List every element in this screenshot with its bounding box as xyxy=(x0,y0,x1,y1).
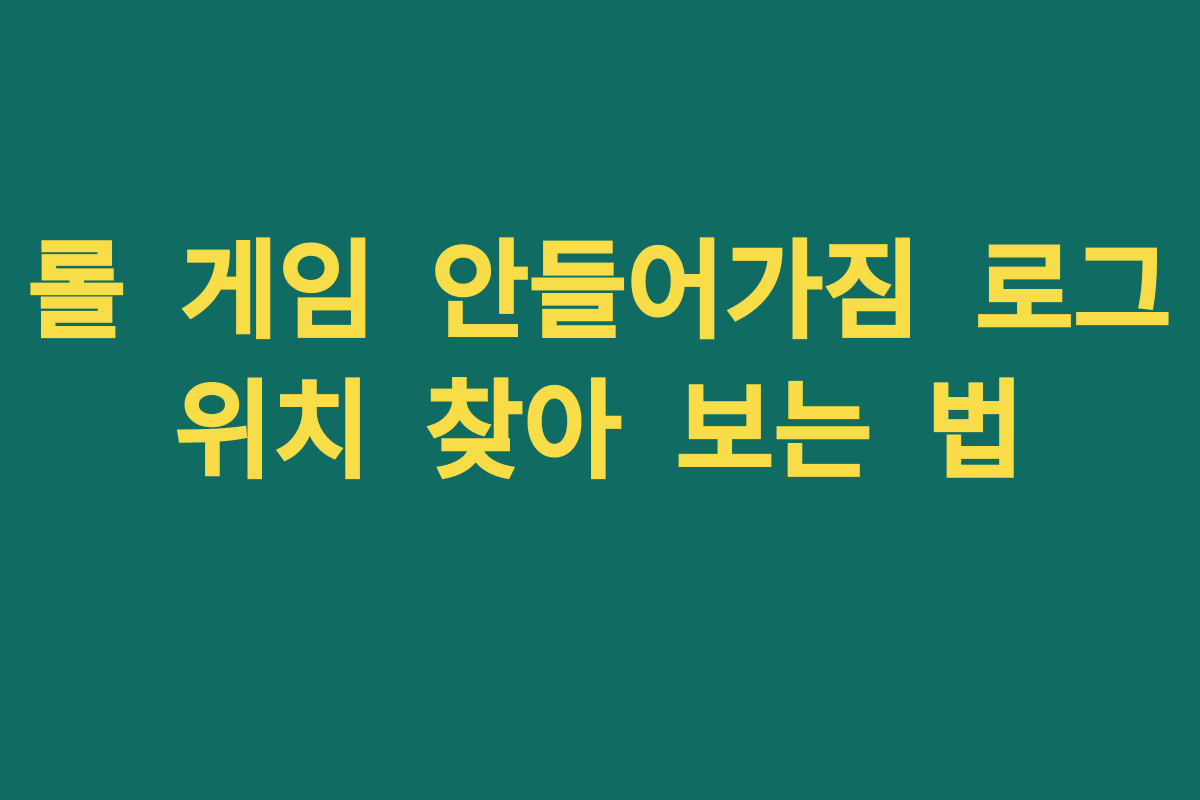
banner-canvas: 롤 게임 안들어가짐 로그 위치 찾아 보는 법 xyxy=(0,0,1200,800)
title-line-2: 위치 찾아 보는 법 xyxy=(0,362,1200,502)
title-line-1: 롤 게임 안들어가짐 로그 xyxy=(0,222,1200,362)
title-block: 롤 게임 안들어가짐 로그 위치 찾아 보는 법 xyxy=(0,222,1200,502)
